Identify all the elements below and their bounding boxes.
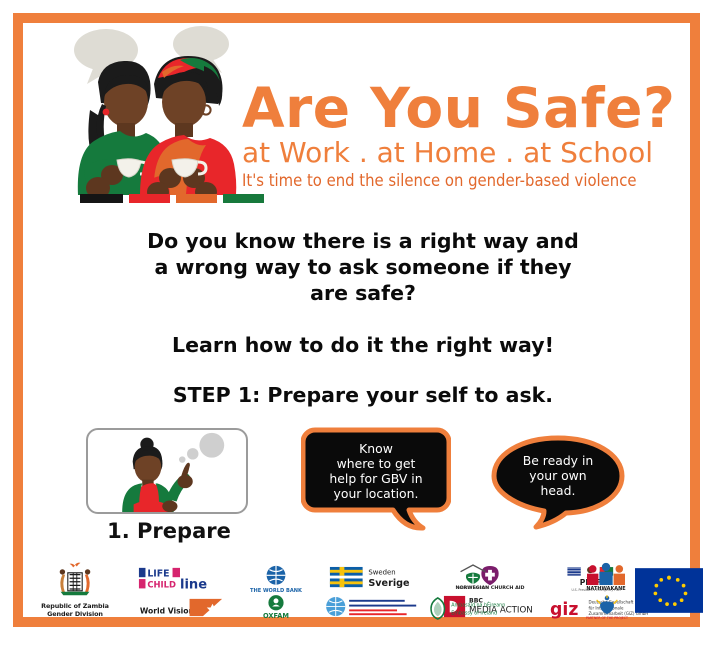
body-line-4: Learn how to do it the right way! [40,332,686,358]
svg-text:NATHWAKANE: NATHWAKANE [586,586,625,591]
bubble-know-where-to-get-help: Know where to get help for GBV in your l… [301,424,451,536]
body-line-3: are safe? [40,280,686,306]
color-bar-red [129,194,170,203]
spacer-1 [40,306,686,332]
body-step-line: STEP 1: Prepare your self to ask. [40,382,686,408]
color-bar-black [80,194,123,203]
flag-color-bar [80,194,264,203]
bubble-1-shape [301,424,451,536]
european-union-flag [634,568,704,617]
poster-title: Are You Safe? [242,80,682,136]
svg-text:PARTNER OF THE PROJECT: PARTNER OF THE PROJECT [586,616,628,620]
svg-text:HABITAT PARTNER: HABITAT PARTNER [458,586,489,590]
poster-tagline: It's time to end the silence on gender-b… [242,171,682,190]
bubble-2-shape [490,434,626,536]
embassy-of-ireland-logo: Ambasáid na hÉireann Embassy of Ireland [422,596,542,625]
bubble-be-ready-in-your-own-head: Be ready in your own head. [490,434,626,536]
step-row: 1. Prepare Know where to get help for GB… [24,424,684,552]
prepare-card [86,428,248,514]
two-women-illustration [54,20,254,206]
svg-text:Embassy of Ireland: Embassy of Ireland [451,610,497,616]
thought-bubble-large-icon [199,433,224,458]
spacer-2 [40,358,686,382]
masthead: Are You Safe? at Work . at Home . at Sch… [24,14,684,206]
title-block: Are You Safe? at Work . at Home . at Sch… [242,80,682,190]
color-bar-green [223,194,264,203]
body-line-2: a wrong way to ask someone if they [40,254,686,280]
svg-text:Ambasáid na hÉireann: Ambasáid na hÉireann [451,601,505,609]
woman-right [140,56,236,202]
partner-blue-logo: PARTNER OF THE PROJECT [572,594,642,625]
body-copy: Do you know there is a right way and a w… [40,228,686,408]
poster-root: Are You Safe? at Work . at Home . at Sch… [0,0,726,648]
poster-subtitle: at Work . at Home . at School [242,137,682,169]
thought-bubble-mid-icon [187,448,198,459]
woman-thinking-illustration [88,430,246,512]
prepare-card-label: 1. Prepare [74,519,264,543]
color-bar-orange [176,194,217,203]
body-line-1: Do you know there is a right way and [40,228,686,254]
partner-logos-strip-right: HABITAT PARTNER NATHWAKANE Ambasáid na h… [26,560,706,626]
habitat-green-logo: HABITAT PARTNER [428,562,518,595]
thought-bubble-small-icon [179,456,185,462]
